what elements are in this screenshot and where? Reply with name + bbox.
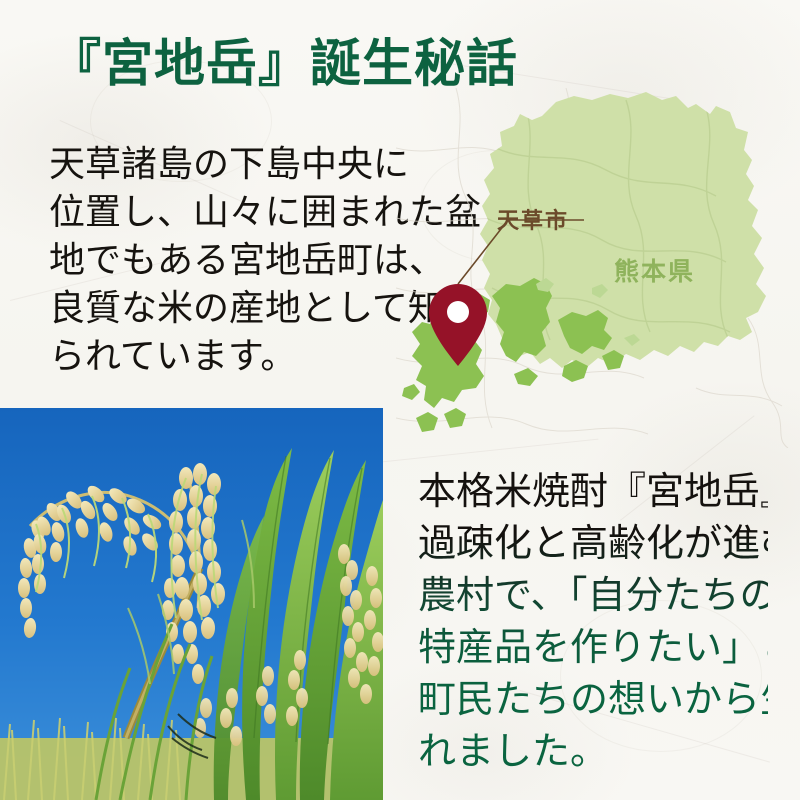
left-description-line: 良質な米の産地として知 (49, 284, 409, 332)
right-description-line: れました。 (418, 726, 768, 778)
right-description-line: 特産品を作りたい」という (418, 622, 768, 674)
left-description: 天草諸島の下島中央に 位置し、山々に囲まれた盆 地でもある宮地岳町は、 良質な米… (49, 140, 409, 380)
left-description-line: 天草諸島の下島中央に (49, 140, 409, 188)
map-pin-dot (447, 301, 469, 323)
left-description-line: 地でもある宮地岳町は、 (49, 236, 409, 284)
right-description: 本格米焼酎『宮地岳』は、 過疎化と高齢化が進む 農村で、「自分たちの米で 特産品… (418, 466, 768, 778)
map-label-amakusa: 天草市 (497, 203, 569, 235)
left-description-line: られています。 (49, 332, 409, 380)
left-description-line: 位置し、山々に囲まれた盆 (49, 188, 409, 236)
right-description-line: 過疎化と高齢化が進む (418, 518, 768, 570)
promo-panel: 『宮地岳』誕生秘話 天草諸島の下島中央に 位置し、山々に囲まれた盆 地でもある宮… (0, 0, 800, 800)
page-title: 『宮地岳』誕生秘話 (50, 36, 518, 95)
right-description-line: 農村で、「自分たちの米で (418, 570, 768, 622)
right-description-line: 町民たちの想いから生ま (418, 674, 768, 726)
kumamoto-map (396, 88, 800, 448)
right-description-line: 本格米焼酎『宮地岳』は、 (418, 466, 768, 518)
rice-field-photo (0, 408, 383, 800)
map-label-kumamoto: 熊本県 (614, 252, 695, 288)
